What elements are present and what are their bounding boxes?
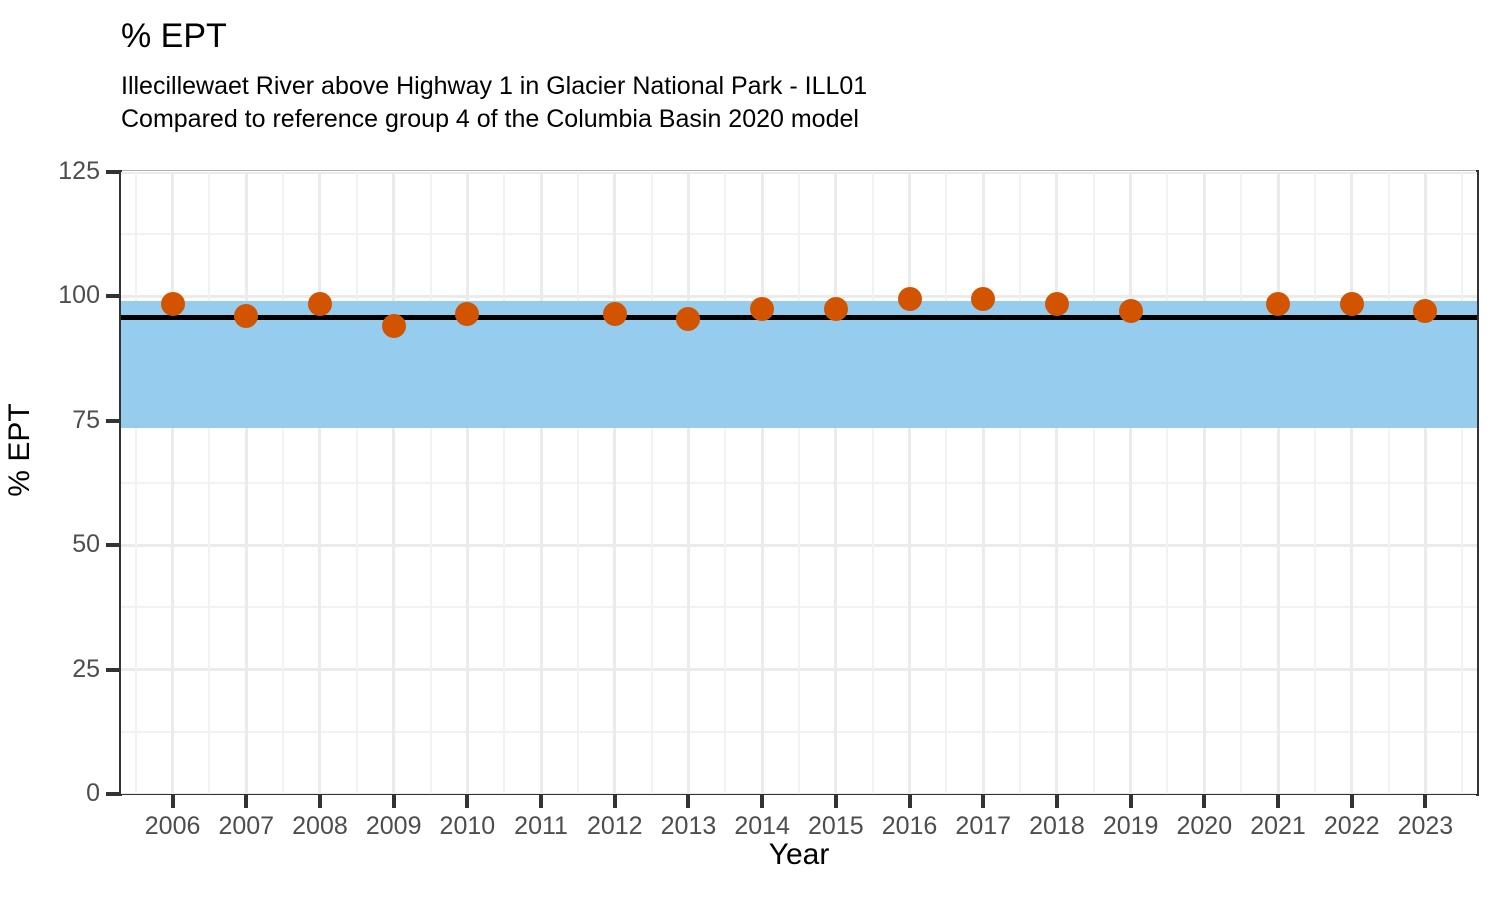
x-tick-mark xyxy=(1350,795,1354,808)
gridline-vertical-minor xyxy=(724,172,726,794)
x-tick-mark xyxy=(244,795,248,808)
title-block: % EPT Illecillewaet River above Highway … xyxy=(121,14,1421,136)
y-tick-mark xyxy=(106,170,119,174)
gridline-vertical-minor xyxy=(1019,172,1021,794)
x-tick-mark xyxy=(834,795,838,808)
gridline-vertical-major xyxy=(1350,172,1353,794)
x-tick-mark xyxy=(392,795,396,808)
data-point[interactable] xyxy=(1266,292,1290,316)
gridline-vertical-major xyxy=(834,172,837,794)
gridline-vertical-major xyxy=(908,172,911,794)
gridline-vertical-minor xyxy=(1166,172,1168,794)
y-tick-label: 125 xyxy=(0,159,100,184)
gridline-vertical-major xyxy=(171,172,174,794)
x-tick-mark xyxy=(1202,795,1206,808)
gridline-vertical-major xyxy=(318,172,321,794)
data-point[interactable] xyxy=(161,292,185,316)
data-point[interactable] xyxy=(382,314,406,338)
gridline-vertical-minor xyxy=(1240,172,1242,794)
y-tick-mark xyxy=(106,419,119,423)
data-point[interactable] xyxy=(971,287,995,311)
x-tick-mark xyxy=(1423,795,1427,808)
y-tick-label: 25 xyxy=(0,657,100,682)
data-point[interactable] xyxy=(824,297,848,321)
gridline-vertical-major xyxy=(982,172,985,794)
gridline-vertical-minor xyxy=(430,172,432,794)
x-tick-mark xyxy=(465,795,469,808)
gridline-vertical-major xyxy=(245,172,248,794)
gridline-vertical-major xyxy=(1055,172,1058,794)
gridline-vertical-minor xyxy=(798,172,800,794)
y-tick-label: 100 xyxy=(0,283,100,308)
gridline-vertical-major xyxy=(1129,172,1132,794)
gridline-vertical-minor xyxy=(1314,172,1316,794)
x-tick-mark xyxy=(539,795,543,808)
data-point[interactable] xyxy=(308,292,332,316)
data-point[interactable] xyxy=(1340,292,1364,316)
x-tick-mark xyxy=(686,795,690,808)
x-tick-mark xyxy=(1129,795,1133,808)
gridline-vertical-minor xyxy=(1461,172,1463,794)
x-tick-label: 2023 xyxy=(1365,812,1485,840)
data-point[interactable] xyxy=(1045,292,1069,316)
x-tick-mark xyxy=(908,795,912,808)
gridline-vertical-major xyxy=(687,172,690,794)
gridline-vertical-minor xyxy=(872,172,874,794)
x-tick-mark xyxy=(981,795,985,808)
x-axis-title: Year xyxy=(121,838,1477,872)
gridline-vertical-minor xyxy=(945,172,947,794)
gridline-vertical-minor xyxy=(577,172,579,794)
gridline-vertical-minor xyxy=(503,172,505,794)
chart-figure: % EPT Illecillewaet River above Highway … xyxy=(0,0,1500,900)
chart-subtitle: Illecillewaet River above Highway 1 in G… xyxy=(121,70,1421,136)
data-point[interactable] xyxy=(603,302,627,326)
plot-panel xyxy=(121,172,1477,794)
gridline-vertical-major xyxy=(392,172,395,794)
gridline-vertical-minor xyxy=(1388,172,1390,794)
data-point[interactable] xyxy=(455,302,479,326)
gridline-vertical-major xyxy=(761,172,764,794)
data-point[interactable] xyxy=(1119,299,1143,323)
gridline-vertical-minor xyxy=(208,172,210,794)
reference-band xyxy=(121,301,1477,428)
gridline-vertical-major xyxy=(613,172,616,794)
x-tick-mark xyxy=(318,795,322,808)
panel-border-top xyxy=(119,170,1479,171)
reference-line xyxy=(121,315,1477,320)
gridline-vertical-major xyxy=(540,172,543,794)
gridline-vertical-minor xyxy=(282,172,284,794)
x-tick-mark xyxy=(760,795,764,808)
gridline-vertical-major xyxy=(466,172,469,794)
gridline-vertical-major xyxy=(1203,172,1206,794)
gridline-vertical-minor xyxy=(356,172,358,794)
y-tick-label: 75 xyxy=(0,408,100,433)
gridline-vertical-minor xyxy=(1093,172,1095,794)
y-tick-mark xyxy=(106,294,119,298)
x-tick-mark xyxy=(613,795,617,808)
x-tick-mark xyxy=(1276,795,1280,808)
y-tick-label: 50 xyxy=(0,532,100,557)
y-tick-mark xyxy=(106,792,119,796)
y-axis-title: % EPT xyxy=(0,0,40,900)
gridline-vertical-major xyxy=(1424,172,1427,794)
gridline-vertical-major xyxy=(1277,172,1280,794)
x-tick-mark xyxy=(1055,795,1059,808)
y-tick-mark xyxy=(106,543,119,547)
gridline-vertical-minor xyxy=(135,172,137,794)
data-point[interactable] xyxy=(898,287,922,311)
y-tick-mark xyxy=(106,668,119,672)
gridline-vertical-minor xyxy=(651,172,653,794)
x-tick-mark xyxy=(171,795,175,808)
y-tick-label: 0 xyxy=(0,781,100,806)
data-point[interactable] xyxy=(750,297,774,321)
chart-title: % EPT xyxy=(121,14,1421,58)
